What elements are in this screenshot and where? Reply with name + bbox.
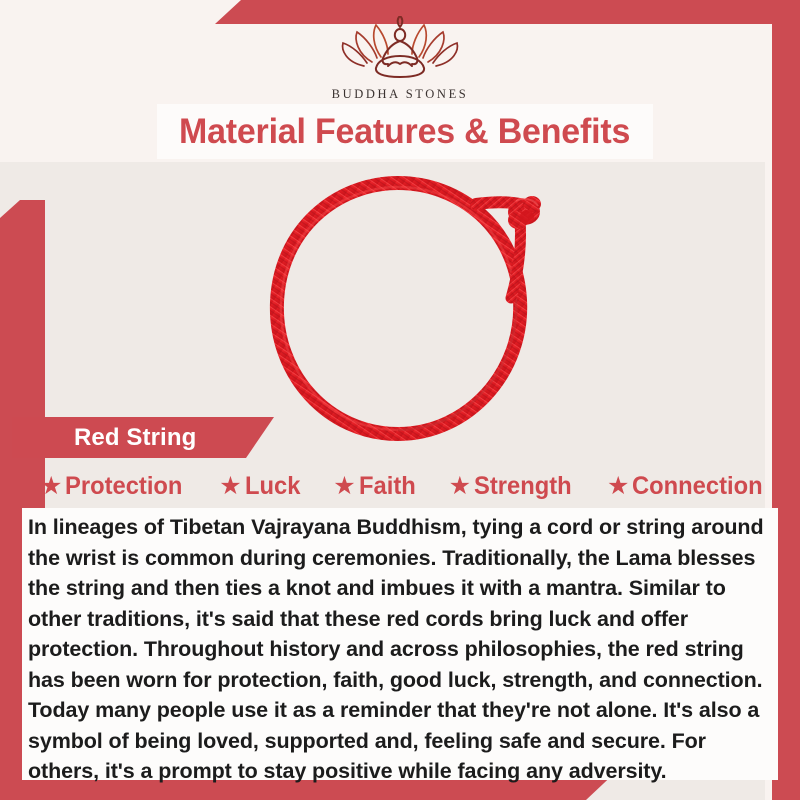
benefit-item: ★ Faith [333, 472, 418, 501]
material-features-infographic: BUDDHA STONES Material Features & Benefi… [0, 0, 800, 800]
lotus-meditation-icon [334, 16, 466, 82]
star-icon: ★ [607, 474, 629, 499]
benefit-label: Faith [359, 472, 416, 501]
star-icon: ★ [219, 474, 241, 499]
brand-name: BUDDHA STONES [332, 87, 469, 102]
benefit-label: Connection [632, 472, 763, 501]
benefit-label: Luck [245, 472, 300, 501]
star-icon: ★ [449, 474, 471, 499]
benefit-item: ★ Connection [607, 472, 770, 501]
benefit-label: Protection [65, 472, 182, 501]
brand-logo: BUDDHA STONES [0, 16, 800, 102]
description-card: In lineages of Tibetan Vajrayana Buddhis… [22, 508, 778, 780]
benefits-list: ★ Protection ★ Luck ★ Faith ★ Strength ★… [40, 468, 770, 504]
benefit-item: ★ Protection [40, 472, 189, 501]
page-title: Material Features & Benefits [157, 104, 653, 159]
material-label-ribbon: Red String [12, 417, 274, 458]
material-label-text: Red String [74, 424, 196, 452]
benefit-label: Strength [474, 472, 572, 501]
benefit-item: ★ Strength [449, 472, 577, 501]
star-icon: ★ [40, 474, 62, 499]
benefit-item: ★ Luck [219, 472, 303, 501]
star-icon: ★ [333, 474, 355, 499]
page-title-text: Material Features & Benefits [179, 112, 630, 152]
description-text: In lineages of Tibetan Vajrayana Buddhis… [28, 512, 772, 787]
product-image-red-string-bracelet [228, 168, 572, 452]
